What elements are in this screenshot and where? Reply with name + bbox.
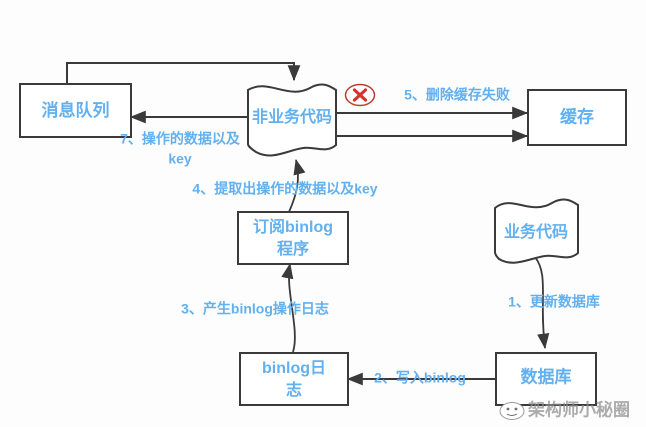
edge-6-label: 7、操作的数据以及 key	[120, 131, 241, 167]
node-non-business-code-label: 非业务代码	[252, 107, 332, 126]
diagram-canvas: 消息队列 非业务代码 缓存 订阅binlog 程序 业务代码 binlog日 志	[0, 0, 646, 427]
edge-1-label-text: 1、更新数据库	[508, 294, 600, 310]
node-business-code-label: 业务代码	[504, 222, 568, 241]
node-binlog-log-label-line2: 志	[286, 380, 302, 399]
watermark-label: 架构师小秘圈	[528, 399, 630, 419]
node-database[interactable]: 数据库	[496, 353, 596, 405]
node-binlog-log[interactable]: binlog日 志	[240, 353, 348, 405]
node-subscribe-binlog-program-label-line2: 程序	[277, 239, 309, 258]
node-cache[interactable]: 缓存	[528, 90, 626, 145]
node-cache-label: 缓存	[560, 106, 594, 126]
edge-6-label-line1: 7、操作的数据以及	[120, 131, 241, 147]
watermark-face-icon	[500, 403, 524, 420]
edge-2-label-text: 2、写入binlog	[374, 370, 466, 386]
edge-4-label-text: 4、提取出操作的数据以及key	[192, 181, 377, 197]
node-message-queue-label: 消息队列	[42, 100, 110, 120]
edge-4-label: 4、提取出操作的数据以及key	[192, 181, 377, 197]
edge-3-label-text: 3、产生binlog操作日志	[181, 301, 329, 317]
edge-6-label-line2: key	[168, 151, 192, 167]
node-database-label: 数据库	[521, 366, 572, 386]
node-non-business-code[interactable]: 非业务代码	[248, 84, 336, 155]
node-subscribe-binlog-program-label-line1: 订阅binlog	[253, 217, 333, 236]
node-message-queue[interactable]: 消息队列	[20, 84, 131, 137]
node-business-code[interactable]: 业务代码	[495, 199, 578, 262]
edge-5-label-text: 5、删除缓存失败	[404, 87, 511, 103]
flow-diagram: 消息队列 非业务代码 缓存 订阅binlog 程序 业务代码 binlog日 志	[0, 0, 646, 427]
node-binlog-log-label-line1: binlog日	[262, 359, 326, 377]
edge-7-mq-to-nonbiz	[67, 63, 294, 83]
edge-2-label: 2、写入binlog	[374, 370, 466, 386]
edge-1-label: 1、更新数据库	[508, 294, 600, 310]
edge-5-label: 5、删除缓存失败	[404, 87, 511, 103]
delete-cache-failed-icon	[346, 85, 375, 106]
node-subscribe-binlog-program[interactable]: 订阅binlog 程序	[238, 212, 348, 264]
edge-3-label: 3、产生binlog操作日志	[181, 301, 329, 317]
